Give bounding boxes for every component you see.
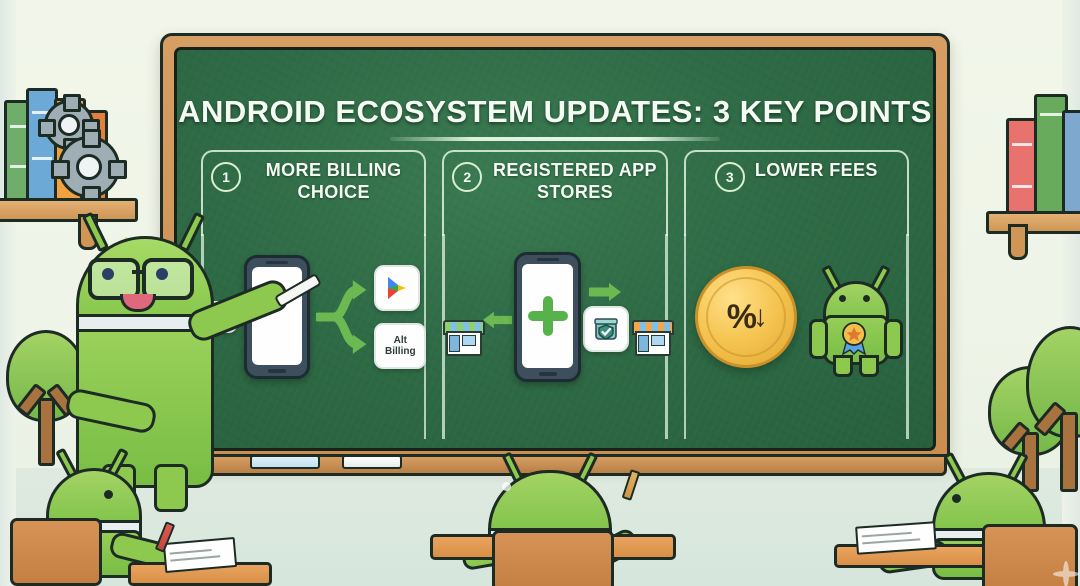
plus-icon: [528, 296, 568, 336]
page-title: ANDROID ECOSYSTEM UPDATES: 3 KEY POINTS: [177, 94, 933, 130]
android-award-icon: [813, 265, 897, 369]
panel-row: 1 MORE BILLING CHOICE: [201, 150, 909, 450]
left-arrow-icon: [481, 310, 512, 330]
panel-number-badge: 2: [452, 162, 482, 192]
storefront-icon: [631, 318, 668, 354]
student-chair: [10, 518, 102, 586]
paper: [163, 537, 237, 573]
panel-registered-app-stores[interactable]: 2 REGISTERED APP STORES: [442, 150, 667, 450]
chalk-tray: [250, 457, 430, 469]
alt-billing-line2: Billing: [385, 346, 416, 357]
student-chair: [492, 530, 614, 586]
panel-header: 1 MORE BILLING CHOICE: [201, 160, 426, 204]
alt-billing-tile: Alt Billing: [374, 323, 426, 369]
google-play-icon: [374, 265, 420, 311]
shelf-bracket: [1008, 224, 1028, 260]
shelf-board: [986, 211, 1080, 234]
panel-title: LOWER FEES: [755, 160, 878, 182]
storefront-icon: [442, 318, 479, 354]
panel-illustration: % ↓: [684, 242, 909, 392]
antenna: [82, 212, 109, 253]
eye: [102, 268, 114, 280]
classroom-scene: ANDROID ECOSYSTEM UPDATES: 3 KEY POINTS …: [0, 0, 1080, 586]
panel-title: REGISTERED APP STORES: [492, 160, 657, 204]
eye: [156, 268, 168, 280]
panel-lower-fees[interactable]: 3 LOWER FEES % ↓: [684, 150, 909, 450]
panel-number-badge: 1: [211, 162, 241, 192]
gear-icon: [58, 136, 120, 198]
right-arrow-icon: [589, 282, 623, 302]
student-left: [24, 436, 254, 586]
wall-left-edge: [0, 0, 16, 586]
panel-header: 2 REGISTERED APP STORES: [442, 160, 667, 204]
title-underline: [390, 137, 720, 141]
coin-down-arrow: ↓: [753, 300, 766, 334]
branch-arrow-icon: [316, 269, 368, 365]
tablet: [855, 521, 937, 555]
student-center: [430, 446, 670, 586]
coin-percent-symbol: %: [727, 298, 755, 337]
chalkboard-surface: ANDROID ECOSYSTEM UPDATES: 3 KEY POINTS …: [174, 47, 936, 451]
phone-plus-icon: [514, 252, 581, 382]
panel-number-badge: 3: [715, 162, 745, 192]
blue-chalk: [250, 455, 320, 469]
verified-store-badge-icon: [583, 306, 629, 352]
panel-title: MORE BILLING CHOICE: [251, 160, 416, 204]
student-right: [840, 446, 1080, 586]
chalkboard: ANDROID ECOSYSTEM UPDATES: 3 KEY POINTS …: [160, 33, 950, 465]
award-star-icon: [839, 321, 869, 355]
glasses-bridge: [132, 270, 144, 274]
panel-illustration: [442, 242, 667, 392]
alt-billing-line1: Alt: [394, 335, 407, 346]
pencil: [622, 469, 641, 501]
white-chalk: [342, 455, 402, 469]
book: [1062, 110, 1080, 216]
panel-header: 3 LOWER FEES: [684, 160, 909, 192]
percent-down-coin-icon: % ↓: [695, 266, 797, 368]
